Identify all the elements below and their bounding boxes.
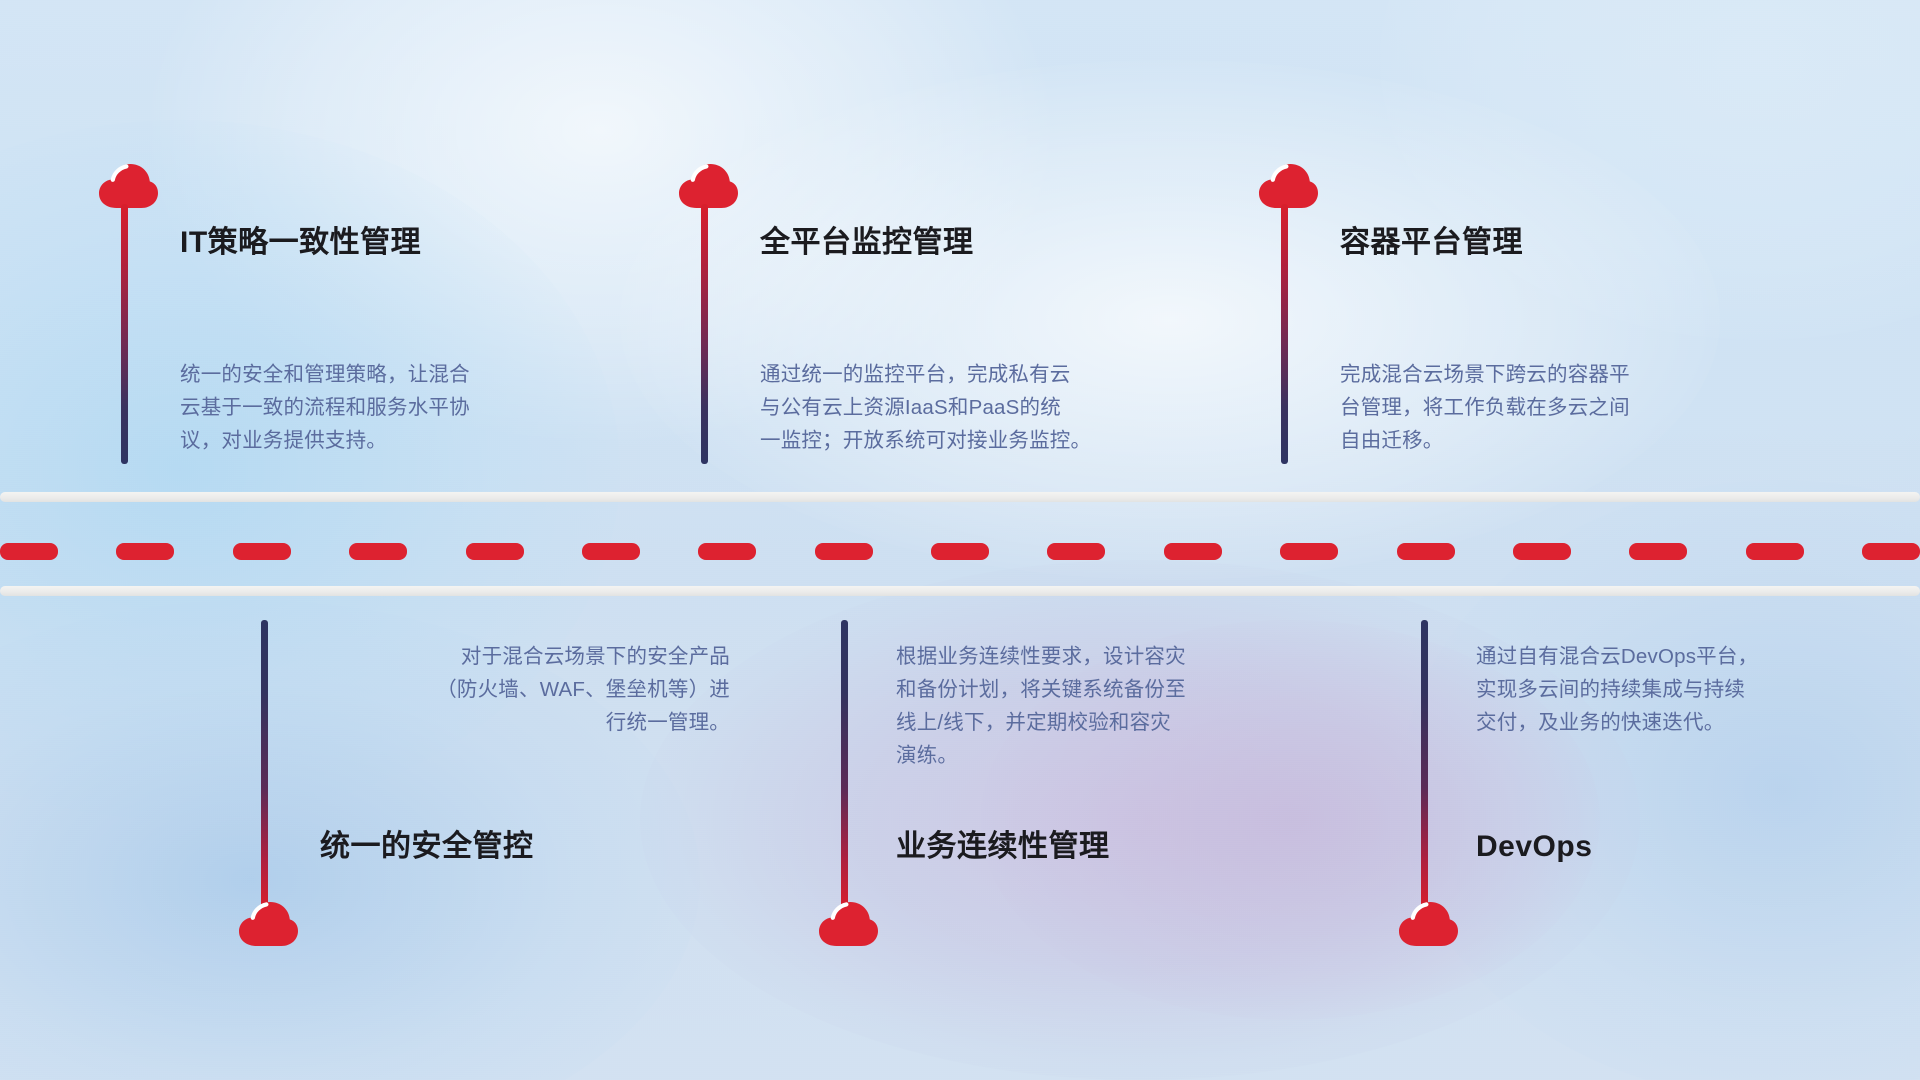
infographic-canvas: IT策略一致性管理 统一的安全和管理策略，让混合 云基于一致的流程和服务水平协 … (0, 0, 1920, 1080)
road-dash (1746, 543, 1804, 560)
item-description: 根据业务连续性要求，设计容灾 和备份计划，将关键系统备份至 线上/线下，并定期校… (896, 640, 1336, 772)
connector-stem (701, 204, 708, 464)
road-dash (815, 543, 873, 560)
cloud-icon (96, 160, 160, 210)
road-dash (0, 543, 58, 560)
item-description: 完成混合云场景下跨云的容器平 台管理，将工作负载在多云之间 自由迁移。 (1340, 358, 1780, 457)
cloud-icon (816, 898, 880, 948)
road-dash (1280, 543, 1338, 560)
connector-stem (1281, 204, 1288, 464)
road-dash (582, 543, 640, 560)
connector-stem (1421, 620, 1428, 910)
item-description: 统一的安全和管理策略，让混合 云基于一致的流程和服务水平协 议，对业务提供支持。 (180, 358, 610, 457)
road-dash (698, 543, 756, 560)
background-glow-top-right (1380, 0, 1920, 340)
item-title: 业务连续性管理 (896, 832, 1110, 862)
item-description: 对于混合云场景下的安全产品 （防火墙、WAF、堡垒机等）进 行统一管理。 (290, 640, 730, 739)
connector-stem (121, 204, 128, 464)
connector-stem (261, 620, 268, 910)
road-dash (466, 543, 524, 560)
background-glow-lavender (640, 560, 1640, 1080)
road-rail-bottom (0, 586, 1920, 596)
cloud-icon (1256, 160, 1320, 210)
road-dash-strip (0, 543, 1920, 560)
road-dash (1047, 543, 1105, 560)
item-title: 容器平台管理 (1340, 228, 1523, 258)
road-dash (349, 543, 407, 560)
item-title: DevOps (1476, 832, 1592, 862)
road-dash (1629, 543, 1687, 560)
road-dash (1397, 543, 1455, 560)
road-dash (1164, 543, 1222, 560)
connector-stem (841, 620, 848, 910)
item-description: 通过统一的监控平台，完成私有云 与公有云上资源IaaS和PaaS的统 一监控；开… (760, 358, 1220, 457)
road-dash (931, 543, 989, 560)
road-rail-top (0, 492, 1920, 502)
road-dash (1513, 543, 1571, 560)
background-glow-top-center (620, 60, 1720, 580)
background-glow-bottom-right (1400, 480, 1920, 1080)
item-title: 统一的安全管控 (320, 832, 534, 862)
cloud-icon (1396, 898, 1460, 948)
item-title: IT策略一致性管理 (180, 228, 421, 258)
road-dash (233, 543, 291, 560)
road-dash (116, 543, 174, 560)
item-description: 通过自有混合云DevOps平台， 实现多云间的持续集成与持续 交付，及业务的快速… (1476, 640, 1896, 739)
cloud-icon (236, 898, 300, 948)
item-title: 全平台监控管理 (760, 228, 974, 258)
cloud-icon (676, 160, 740, 210)
road-dash (1862, 543, 1920, 560)
